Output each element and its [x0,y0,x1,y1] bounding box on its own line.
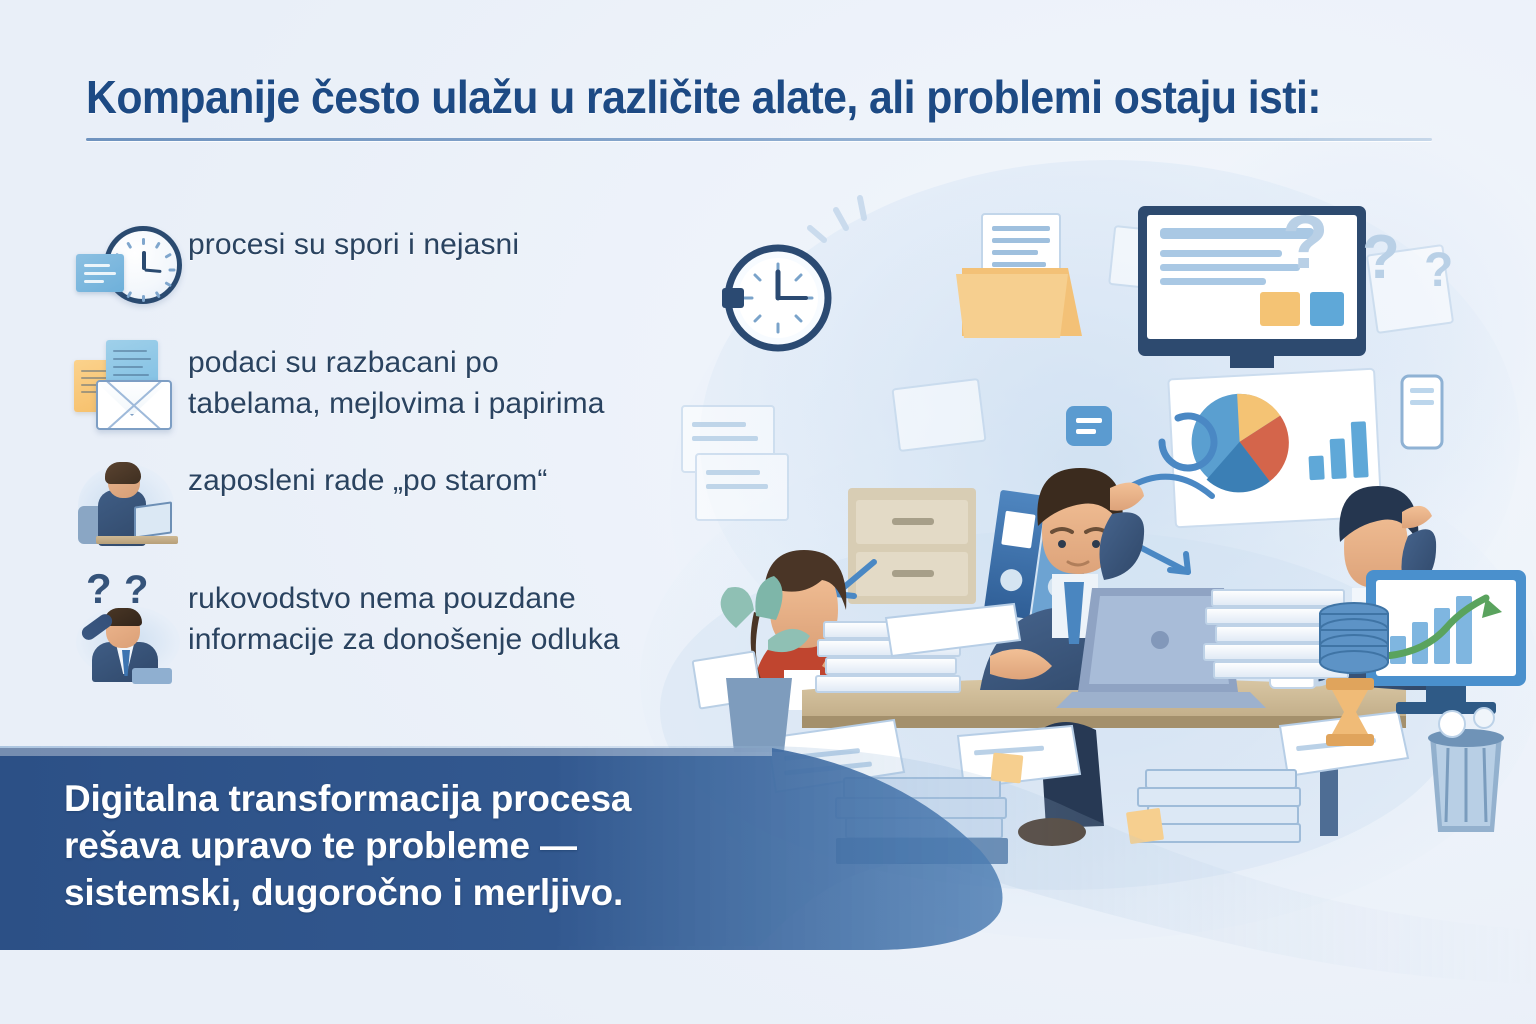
clock-note-icon [72,218,184,322]
infographic-slide: Kompanije često ulažu u različite alate,… [0,0,1536,1024]
list-item-line: tabelama, mejlovima i papirima [188,383,605,424]
list-item-line: rukovodstvo nema pouzdane [188,578,620,619]
list-item: ? ? rukovodstvo nema pouzdane informacij… [72,572,712,676]
page-title: Kompanije često ulažu u različite alate,… [86,72,1388,124]
banner-line: rešava upravo te probleme — [64,823,631,870]
person-hair [105,462,141,484]
question-mark-icon: ? [86,568,112,610]
list-item-line: procesi su spori i nejasni [188,224,519,265]
documents-envelope-icon [72,336,184,440]
question-mark-icon: ? [124,570,148,610]
list-item-line: zaposleni rade „po starom“ [188,460,547,501]
note-card-icon [76,254,124,292]
list-item-text: procesi su spori i nejasni [188,218,519,265]
laptop-icon [134,501,172,538]
clock-hour-hand [142,251,146,270]
banner-text: Digitalna transformacija procesa rešava … [64,776,631,917]
list-item-line: podaci su razbacani po [188,342,605,383]
svg-text:?: ? [1424,244,1453,297]
title-block: Kompanije često ulažu u različite alate,… [86,72,1486,141]
list-item-text: rukovodstvo nema pouzdane informacije za… [188,572,620,661]
envelope-icon [96,380,172,430]
desk-surface [96,536,178,544]
clock-minute-hand [144,269,161,273]
list-item: zaposleni rade „po starom“ [72,454,712,558]
banner-line: Digitalna transformacija procesa [64,776,631,823]
title-divider [86,138,1432,141]
list-item: podaci su razbacani po tabelama, mejlovi… [72,336,712,440]
list-item-text: podaci su razbacani po tabelama, mejlovi… [188,336,605,425]
problem-list: procesi su spori i nejasni podaci su raz… [72,218,712,690]
laptop-icon [132,668,172,684]
list-item-line: informacije za donošenje odluka [188,619,620,660]
banner-line: sistemski, dugoročno i merljivo. [64,870,631,917]
list-item-text: zaposleni rade „po starom“ [188,454,547,501]
list-item: procesi su spori i nejasni [72,218,712,322]
svg-text:?: ? [1282,200,1328,285]
confused-person-question-marks-icon: ? ? [72,572,184,676]
person-at-laptop-icon [72,454,184,558]
bottom-banner: Digitalna transformacija procesa rešava … [0,734,1536,1024]
svg-text:?: ? [1362,223,1400,292]
